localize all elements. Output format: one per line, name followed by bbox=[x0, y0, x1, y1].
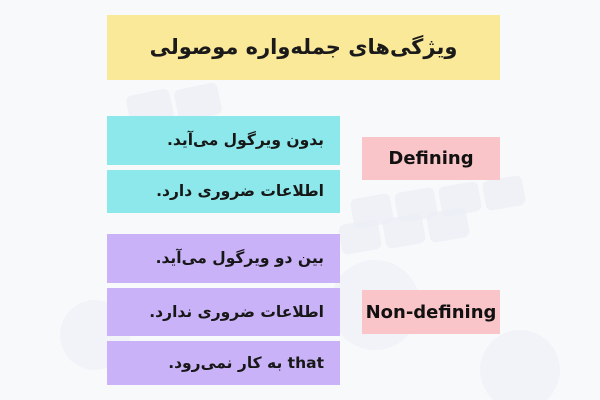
watermark-tile bbox=[438, 181, 483, 217]
page-title: ویژگی‌های جمله‌واره موصولی bbox=[150, 34, 458, 61]
watermark-tile bbox=[394, 187, 439, 223]
infographic-canvas: ویژگی‌های جمله‌واره موصولی بدون ویرگول م… bbox=[0, 0, 600, 400]
list-item: بدون ویرگول می‌آید. bbox=[107, 116, 340, 165]
watermark-tile bbox=[426, 207, 471, 243]
list-item-label: بین دو ویرگول می‌آید. bbox=[156, 248, 324, 269]
list-item: اطلاعات ضروری ندارد. bbox=[107, 288, 340, 336]
category-label-text: Defining bbox=[388, 148, 473, 169]
list-item-label: that به کار نمی‌رود. bbox=[168, 353, 324, 374]
category-label-text: Non-defining bbox=[366, 302, 497, 323]
watermark-tile bbox=[338, 219, 383, 255]
category-label-non-defining: Non-defining bbox=[362, 290, 500, 334]
watermark-tile bbox=[382, 213, 427, 249]
list-item-label: اطلاعات ضروری دارد. bbox=[156, 181, 324, 202]
watermark-tile bbox=[350, 193, 395, 229]
page-title-box: ویژگی‌های جمله‌واره موصولی bbox=[107, 15, 500, 80]
watermark-tile bbox=[482, 175, 527, 211]
list-item: اطلاعات ضروری دارد. bbox=[107, 170, 340, 213]
list-item-label: اطلاعات ضروری ندارد. bbox=[149, 302, 324, 323]
watermark-blob bbox=[480, 330, 560, 400]
list-item-label: بدون ویرگول می‌آید. bbox=[167, 130, 324, 151]
list-item: بین دو ویرگول می‌آید. bbox=[107, 234, 340, 283]
list-item: that به کار نمی‌رود. bbox=[107, 341, 340, 385]
category-label-defining: Defining bbox=[362, 137, 500, 180]
